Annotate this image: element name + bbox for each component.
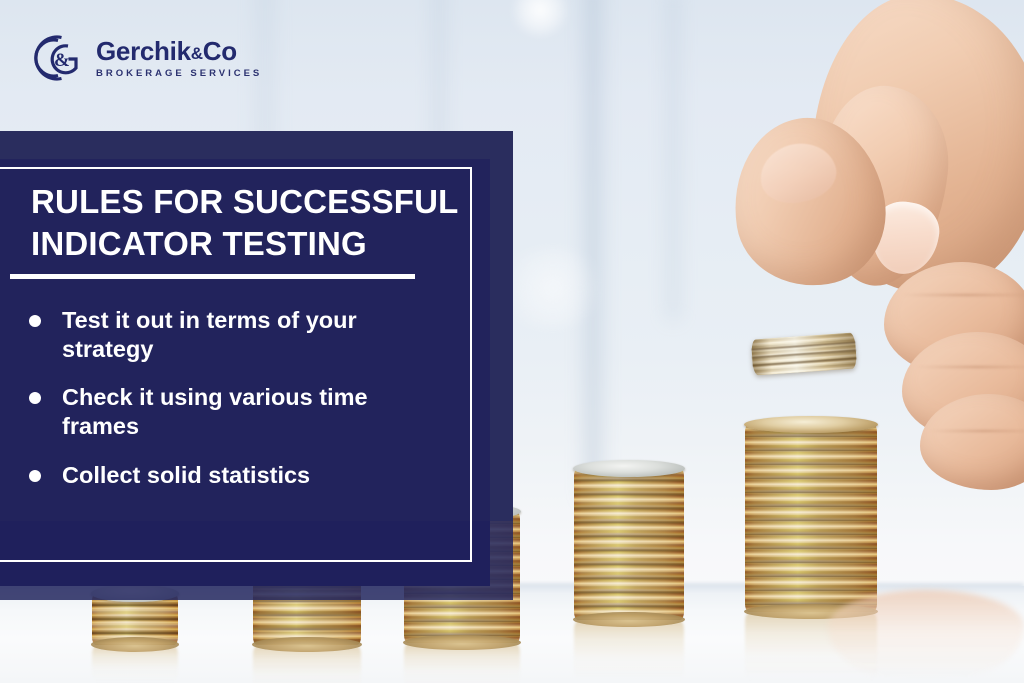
coin-reflection [574, 620, 684, 682]
list-item: Test it out in terms of your strategy [22, 306, 442, 364]
skin-crease [916, 366, 1024, 368]
brand-tagline: BROKERAGE SERVICES [96, 69, 262, 79]
title-divider [10, 274, 415, 279]
brand-name-part1: Gerchik [96, 36, 191, 66]
content-panel: RULES FOR SUCCESSFUL INDICATOR TESTING T… [0, 131, 513, 600]
svg-text:&: & [54, 50, 70, 71]
coin-edge [752, 349, 856, 358]
hand-reflection [828, 590, 1024, 680]
skin-crease [930, 430, 1024, 432]
coin-edge [751, 341, 855, 350]
coin-bottom-face [91, 637, 179, 652]
list-item: Check it using various time frames [22, 383, 442, 441]
held-coin-stack [751, 332, 857, 375]
panel-content: RULES FOR SUCCESSFUL INDICATOR TESTING T… [0, 131, 513, 600]
coin-top-face [573, 460, 685, 477]
coin-stack-1 [92, 593, 178, 645]
rules-list: Test it out in terms of your strategy Ch… [22, 306, 442, 509]
coin-bottom-face [403, 635, 521, 650]
coin-edges [574, 468, 684, 620]
light-highlight [498, 248, 608, 328]
brand-ampersand: & [191, 44, 203, 63]
coin-edge [753, 357, 857, 366]
hand [716, 0, 1024, 514]
shirt-fold [664, 0, 682, 320]
brand-wordmark: Gerchik&Co BROKERAGE SERVICES [96, 38, 262, 79]
promo-banner: & Gerchik&Co BROKERAGE SERVICES RULES FO… [0, 0, 1024, 683]
skin-crease [902, 294, 1024, 296]
coin-bottom-face [252, 637, 362, 652]
coin-bottom-face [573, 612, 685, 627]
brand-name-part2: Co [203, 36, 237, 66]
page-title: RULES FOR SUCCESSFUL INDICATOR TESTING [31, 181, 461, 264]
brand-logo[interactable]: & Gerchik&Co BROKERAGE SERVICES [28, 32, 262, 84]
shirt-fold [580, 0, 606, 500]
list-item: Collect solid statistics [22, 461, 442, 490]
brand-name: Gerchik&Co [96, 38, 262, 64]
coin-stack-4 [574, 468, 684, 620]
gerchik-monogram-icon: & [28, 32, 86, 84]
